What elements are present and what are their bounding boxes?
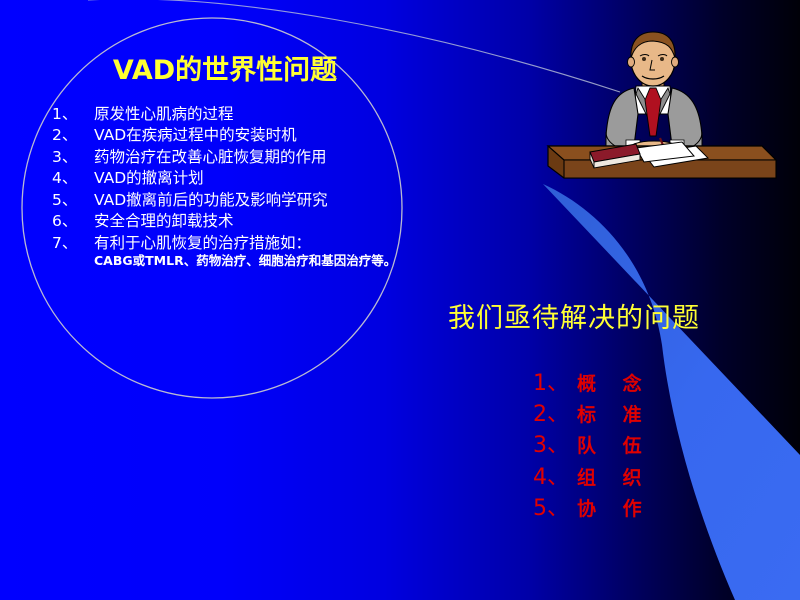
list-item-subtext: CABG或TMLR、药物治疗、细胞治疗和基因治疗等。 [94,253,404,268]
clipart-person [606,32,702,162]
list-item-text: 组 织 [577,465,652,492]
list-item-number: 2、 [533,399,577,430]
list-item: 2、 VAD在疾病过程中的安装时机 [52,125,412,145]
list-item-text: VAD的撤离计划 [92,168,412,188]
list-item-text: 概 念 [577,371,652,398]
left-numbered-list: 1、 原发性心肌病的过程 2、 VAD在疾病过程中的安装时机 3、 药物治疗在改… [52,104,412,268]
right-numbered-list: 1、 概 念 2、 标 准 3、 队 伍 4、 组 织 5、 协 作 [533,368,652,524]
list-item-number: 3、 [52,147,92,167]
list-item-text: 安全合理的卸载技术 [92,211,412,231]
list-item-text: VAD在疾病过程中的安装时机 [92,125,412,145]
right-title: 我们亟待解决的问题 [448,296,700,335]
list-item-number: 1、 [533,368,577,399]
list-item-number: 4、 [52,168,92,188]
list-item-number: 7、 [52,233,92,253]
list-item: 3、 药物治疗在改善心脏恢复期的作用 [52,147,412,167]
presentation-slide: VAD的世界性问题 1、 原发性心肌病的过程 2、 VAD在疾病过程中的安装时机… [0,0,800,600]
list-item-text: 原发性心肌病的过程 [92,104,412,124]
list-item-text: 有利于心肌恢复的治疗措施如： [92,233,412,253]
list-item: 6、 安全合理的卸载技术 [52,211,412,231]
list-item: 1、 原发性心肌病的过程 [52,104,412,124]
list-item-number: 5、 [52,190,92,210]
list-item-text: 药物治疗在改善心脏恢复期的作用 [92,147,412,167]
clipart-businessman-at-desk [530,28,780,218]
left-content-panel: VAD的世界性问题 1、 原发性心肌病的过程 2、 VAD在疾病过程中的安装时机… [0,0,430,420]
list-item-number: 4、 [533,462,577,493]
list-item: 2、 标 准 [533,399,652,430]
list-item: 4、 组 织 [533,462,652,493]
list-item: 5、 协 作 [533,493,652,524]
list-item-text: VAD撤离前后的功能及影响学研究 [92,190,412,210]
list-item: 5、 VAD撤离前后的功能及影响学研究 [52,190,412,210]
list-item: 4、 VAD的撤离计划 [52,168,412,188]
list-item: 7、 有利于心肌恢复的治疗措施如： [52,233,412,253]
list-item-number: 3、 [533,430,577,461]
list-item-number: 5、 [533,493,577,524]
list-item-text: 队 伍 [577,433,652,460]
list-item-text: 协 作 [577,496,652,523]
left-title: VAD的世界性问题 [60,57,390,85]
list-item-number: 6、 [52,211,92,231]
list-item: 3、 队 伍 [533,430,652,461]
list-item-number: 1、 [52,104,92,124]
list-item-number: 2、 [52,125,92,145]
list-item-text: 标 准 [577,402,652,429]
tie [645,88,661,136]
list-item: 1、 概 念 [533,368,652,399]
